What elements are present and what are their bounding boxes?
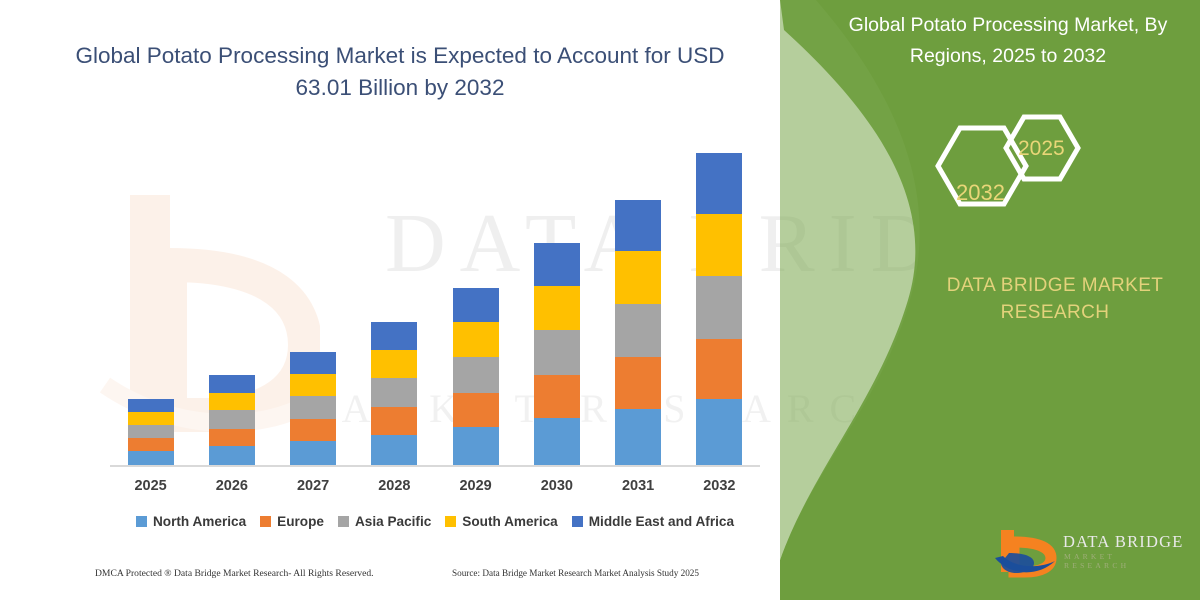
infographic-canvas: DATA BRIDGE MARKET RESEARCH Global Potat… <box>0 0 1200 600</box>
bar-segment[interactable] <box>209 393 255 411</box>
brand-name: DATA BRIDGE MARKET RESEARCH <box>905 272 1200 326</box>
bar-segment[interactable] <box>128 412 174 425</box>
bar-segment[interactable] <box>128 399 174 412</box>
legend-swatch-icon <box>445 516 456 527</box>
bar-segment[interactable] <box>696 339 742 399</box>
bar-segment[interactable] <box>371 407 417 435</box>
bar-segment[interactable] <box>290 419 336 441</box>
x-axis-line <box>110 465 760 467</box>
stacked-bar[interactable] <box>128 399 174 465</box>
legend-swatch-icon <box>136 516 147 527</box>
legend-label: South America <box>462 514 557 529</box>
x-axis-label-2026: 2026 <box>191 478 272 494</box>
bar-segment[interactable] <box>209 446 255 465</box>
bar-segment[interactable] <box>371 378 417 407</box>
bar-segment[interactable] <box>615 251 661 303</box>
x-axis-labels: 20252026202720282029203020312032 <box>110 478 760 494</box>
bar-segment[interactable] <box>128 438 174 451</box>
bar-segment[interactable] <box>453 288 499 322</box>
bar-segment[interactable] <box>209 375 255 392</box>
bar-segment[interactable] <box>534 418 580 465</box>
bar-segment[interactable] <box>128 425 174 438</box>
bar-segment[interactable] <box>290 441 336 465</box>
bar-segment[interactable] <box>615 409 661 465</box>
stacked-bar[interactable] <box>371 322 417 465</box>
bar-segment[interactable] <box>371 435 417 465</box>
bar-segment[interactable] <box>290 396 336 419</box>
footer-copyright: DMCA Protected ® Data Bridge Market Rese… <box>95 568 374 579</box>
data-bridge-logo: DATA BRIDGE MARKET RESEARCH <box>995 528 1185 580</box>
bar-segment[interactable] <box>534 375 580 418</box>
bar-segment[interactable] <box>696 153 742 214</box>
bar-segment[interactable] <box>453 393 499 428</box>
legend-swatch-icon <box>572 516 583 527</box>
bar-segment[interactable] <box>615 200 661 251</box>
legend-label: Europe <box>277 514 324 529</box>
bar-segment[interactable] <box>209 410 255 428</box>
bar-segment[interactable] <box>453 322 499 357</box>
bar-segment[interactable] <box>615 357 661 409</box>
bar-column-2031 <box>598 140 679 465</box>
x-axis-label-2030: 2030 <box>516 478 597 494</box>
hexagon-badges: 2032 2025 <box>930 100 1130 230</box>
bar-segment[interactable] <box>290 374 336 396</box>
stacked-bar[interactable] <box>209 375 255 465</box>
bar-segment[interactable] <box>290 352 336 374</box>
panel-title: Global Potato Processing Market, By Regi… <box>828 10 1188 72</box>
stacked-bar[interactable] <box>453 288 499 465</box>
bar-segment[interactable] <box>534 286 580 330</box>
x-axis-label-2025: 2025 <box>110 478 191 494</box>
x-axis-label-2029: 2029 <box>435 478 516 494</box>
legend-swatch-icon <box>260 516 271 527</box>
logo-wordmark: DATA BRIDGE <box>1063 532 1184 552</box>
legend-item-europe[interactable]: Europe <box>260 514 324 529</box>
stacked-bar[interactable] <box>290 352 336 465</box>
bar-segment[interactable] <box>453 357 499 393</box>
logo-tagline: MARKET RESEARCH <box>1064 552 1185 570</box>
stacked-bar[interactable] <box>696 153 742 465</box>
bar-segment[interactable] <box>696 276 742 339</box>
legend-label: North America <box>153 514 246 529</box>
bar-column-2032 <box>679 140 760 465</box>
legend-item-middle-east-and-africa[interactable]: Middle East and Africa <box>572 514 734 529</box>
bar-column-2027 <box>273 140 354 465</box>
hexagon-2025-label: 2025 <box>1018 137 1065 161</box>
x-axis-label-2031: 2031 <box>598 478 679 494</box>
x-axis-label-2028: 2028 <box>354 478 435 494</box>
bar-column-2030 <box>516 140 597 465</box>
x-axis-label-2027: 2027 <box>273 478 354 494</box>
bar-segment[interactable] <box>615 304 661 357</box>
bar-segment[interactable] <box>453 427 499 465</box>
legend-swatch-icon <box>338 516 349 527</box>
bar-segment[interactable] <box>371 322 417 350</box>
bar-segment[interactable] <box>371 350 417 378</box>
legend-label: Asia Pacific <box>355 514 431 529</box>
bar-segment[interactable] <box>696 214 742 275</box>
hexagon-2032-label: 2032 <box>956 180 1005 206</box>
bar-column-2026 <box>191 140 272 465</box>
bar-column-2029 <box>435 140 516 465</box>
bar-column-2025 <box>110 140 191 465</box>
bar-column-2028 <box>354 140 435 465</box>
legend-item-asia-pacific[interactable]: Asia Pacific <box>338 514 431 529</box>
stacked-bar-chart <box>110 140 760 465</box>
chart-title: Global Potato Processing Market is Expec… <box>60 40 740 104</box>
x-axis-label-2032: 2032 <box>679 478 760 494</box>
footer-source: Source: Data Bridge Market Research Mark… <box>452 568 699 578</box>
chart-legend: North AmericaEuropeAsia PacificSouth Ame… <box>100 514 770 529</box>
legend-item-north-america[interactable]: North America <box>136 514 246 529</box>
bar-segment[interactable] <box>534 330 580 375</box>
stacked-bar[interactable] <box>534 243 580 465</box>
footer: DMCA Protected ® Data Bridge Market Rese… <box>0 568 800 590</box>
bar-segment[interactable] <box>209 429 255 446</box>
legend-item-south-america[interactable]: South America <box>445 514 557 529</box>
bar-segment[interactable] <box>534 243 580 286</box>
legend-label: Middle East and Africa <box>589 514 734 529</box>
stacked-bar[interactable] <box>615 200 661 465</box>
logo-mark-icon <box>995 528 1059 578</box>
bar-segment[interactable] <box>128 451 174 465</box>
bar-segment[interactable] <box>696 399 742 465</box>
